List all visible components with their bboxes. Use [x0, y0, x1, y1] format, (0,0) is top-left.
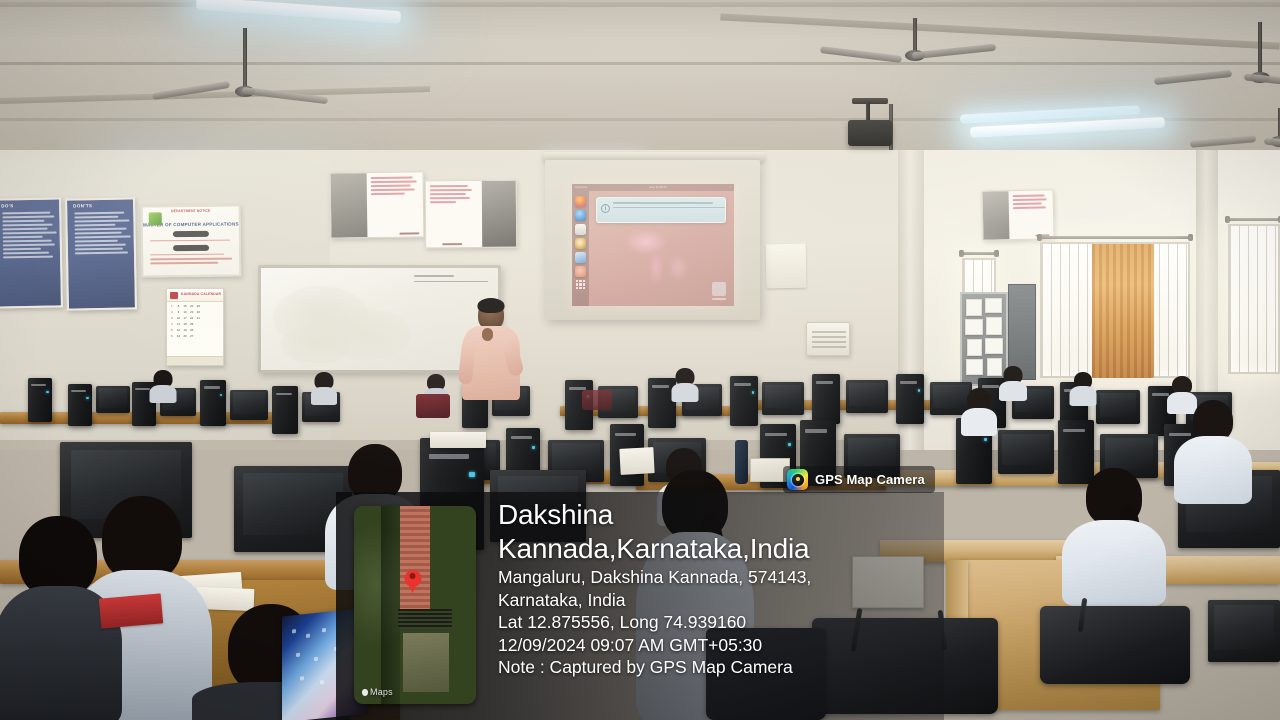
pc-tower — [68, 384, 92, 426]
backpack — [1040, 606, 1190, 684]
apple-logo-icon — [362, 689, 368, 696]
location-title-line-1: Dakshina — [498, 498, 938, 532]
whiteboard-writing — [414, 275, 492, 286]
coordinates: Lat 12.875556, Long 74.939160 — [498, 611, 938, 634]
student — [312, 372, 336, 402]
ubuntu-notification-dialog[interactable]: i — [596, 197, 726, 223]
window — [1228, 224, 1280, 374]
pc-monitor — [1208, 600, 1280, 662]
pc-monitor — [96, 386, 130, 413]
topbar-status-icons[interactable]: ▾ — [729, 186, 731, 189]
paper-stack — [430, 432, 486, 448]
gps-map-camera-label: GPS Map Camera — [815, 472, 925, 487]
right-wall-quote-poster — [981, 189, 1054, 240]
jellyfish-wallpaper — [612, 228, 708, 290]
ceiling-projector — [848, 120, 892, 146]
pc-monitor — [1096, 390, 1140, 424]
pc-tower — [896, 374, 924, 424]
pc-monitor — [998, 430, 1054, 474]
student — [1178, 400, 1248, 500]
location-map-thumbnail[interactable]: Maps — [354, 506, 476, 704]
address-line-2: Karnataka, India — [498, 589, 938, 612]
projector-mount-plate — [852, 98, 888, 104]
mca-poster: DEPARTMENT NOTICE MASTER OF COMPUTER APP… — [141, 204, 242, 277]
chair — [416, 394, 450, 418]
map-pin-icon — [404, 570, 421, 593]
parnas-quote-poster — [330, 171, 425, 238]
gps-map-camera-app-icon — [787, 469, 808, 490]
map-attribution-label: Maps — [370, 687, 393, 697]
calendar-title: KANNADA CALENDAR — [181, 292, 221, 296]
curtain-rod — [1228, 218, 1280, 221]
libreoffice-writer-icon[interactable] — [575, 252, 586, 263]
red-item — [99, 593, 163, 628]
student — [0, 516, 116, 720]
gps-info-panel: Maps Dakshina Kannada,Karnataka,India Ma… — [336, 492, 944, 720]
donts-board: DON'TS — [65, 197, 137, 310]
address-line-1: Mangaluru, Dakshina Kannada, 574143, — [498, 566, 938, 589]
ubuntu-dock — [572, 191, 589, 306]
pc-monitor — [230, 390, 268, 420]
chair — [582, 390, 612, 410]
wall-notice — [766, 244, 807, 289]
wall-ac-unit — [806, 322, 850, 356]
show-applications-icon[interactable] — [576, 280, 585, 289]
ubuntu-topbar: Activities Sep 12 09:07 ▾ — [572, 184, 734, 191]
pc-tower — [730, 376, 758, 426]
college-logo-icon — [149, 212, 162, 225]
window-curtain — [1092, 244, 1154, 378]
wall-calendar: KANNADA CALENDAR 18152229 29162330 31017… — [166, 288, 224, 366]
student — [672, 368, 698, 400]
help-icon[interactable] — [575, 266, 586, 277]
location-title-line-2: Kannada,Karnataka,India — [498, 532, 938, 566]
student — [1000, 366, 1026, 400]
student — [1066, 468, 1162, 604]
presenter — [458, 300, 524, 400]
student — [150, 370, 176, 402]
dos-board-title: DO'S — [0, 199, 59, 210]
pc-monitor — [846, 380, 888, 413]
pc-monitor — [762, 382, 804, 415]
gps-text-block: Dakshina Kannada,Karnataka,India Mangalu… — [498, 498, 938, 679]
student — [962, 388, 996, 434]
pc-tower — [200, 380, 226, 426]
topbar-clock[interactable]: Sep 12 09:07 — [649, 186, 667, 189]
projected-ubuntu-desktop: Activities Sep 12 09:07 ▾ i — [572, 184, 734, 306]
calendar-grid: 18152229 29162330 310172431 4111825 5121… — [167, 302, 223, 339]
dos-board: DO'S — [0, 197, 63, 308]
elon-musk-quote-poster — [425, 180, 517, 249]
timestamp: 12/09/2024 09:07 AM GMT+05:30 — [498, 634, 938, 657]
gps-map-camera-badge: GPS Map Camera — [783, 466, 935, 493]
student — [1070, 372, 1096, 406]
pc-tower — [272, 386, 298, 434]
activities-label[interactable]: Activities — [575, 186, 587, 189]
files-icon[interactable] — [575, 224, 586, 235]
rhythmbox-icon[interactable] — [575, 238, 586, 249]
ceiling-fan — [180, 28, 310, 98]
map-attribution: Maps — [362, 687, 393, 697]
ceiling-beam — [0, 2, 1280, 7]
pc-tower — [812, 374, 840, 424]
pc-tower — [28, 378, 52, 422]
curtain-rod — [962, 252, 996, 255]
ceiling-fan — [1200, 22, 1280, 82]
ceiling-fan — [850, 18, 980, 84]
capture-note: Note : Captured by GPS Map Camera — [498, 656, 938, 679]
donts-board-title: DON'TS — [67, 199, 133, 210]
thunderbird-icon[interactable] — [575, 210, 586, 221]
curtain-rod — [1040, 236, 1190, 239]
firefox-icon[interactable] — [575, 196, 586, 207]
desktop-icon[interactable] — [712, 282, 726, 296]
gps-map-camera-photo: DO'S DON'TS DEPARTMENT NOTICE MASTER OF … — [0, 0, 1280, 720]
info-icon: i — [601, 204, 610, 213]
